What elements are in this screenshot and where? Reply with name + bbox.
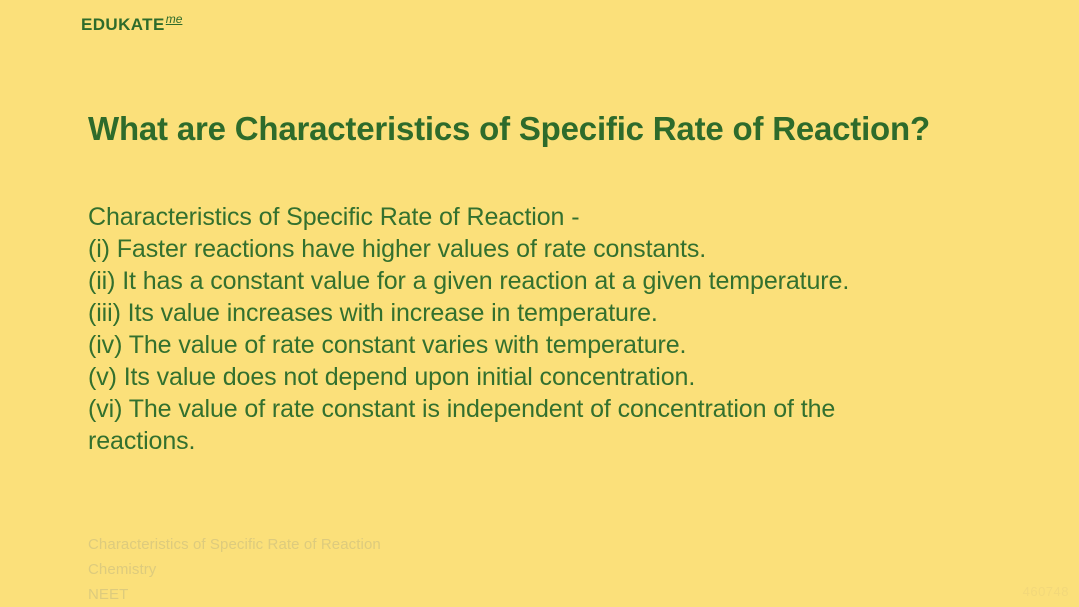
- body-line-vi: (vi) The value of rate constant is indep…: [88, 393, 948, 457]
- body-line-intro: Characteristics of Specific Rate of Reac…: [88, 201, 988, 233]
- body-line-iii: (iii) Its value increases with increase …: [88, 297, 988, 329]
- brand-logo: EDUKATE me: [81, 16, 182, 33]
- brand-name: EDUKATE: [81, 16, 165, 33]
- footer: Characteristics of Specific Rate of Reac…: [88, 532, 688, 607]
- footer-topic: Characteristics of Specific Rate of Reac…: [88, 532, 688, 557]
- watermark-id: 460748: [1023, 584, 1069, 599]
- body-line-iv: (iv) The value of rate constant varies w…: [88, 329, 988, 361]
- brand-superscript: me: [166, 13, 183, 25]
- footer-subject: Chemistry: [88, 557, 688, 582]
- body-line-i: (i) Faster reactions have higher values …: [88, 233, 988, 265]
- page-title: What are Characteristics of Specific Rat…: [88, 110, 1028, 148]
- body-line-ii: (ii) It has a constant value for a given…: [88, 265, 988, 297]
- footer-exam: NEET: [88, 582, 688, 607]
- body-line-v: (v) Its value does not depend upon initi…: [88, 361, 988, 393]
- slide: EDUKATE me What are Characteristics of S…: [0, 0, 1079, 607]
- body-content: Characteristics of Specific Rate of Reac…: [88, 201, 988, 457]
